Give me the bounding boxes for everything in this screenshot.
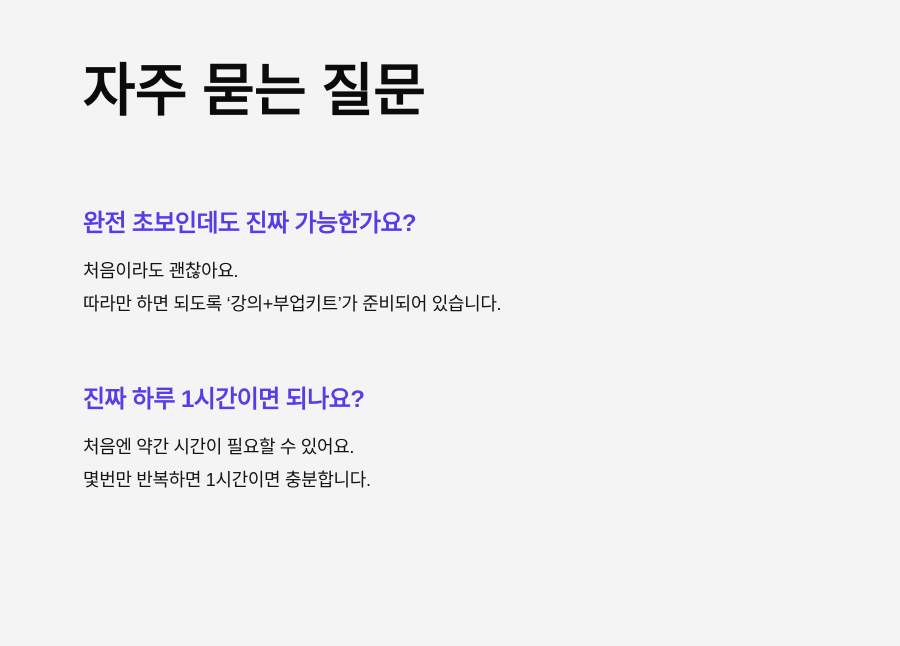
- faq-page: 자주 묻는 질문 완전 초보인데도 진짜 가능한가요? 처음이라도 괜찮아요. …: [0, 0, 900, 646]
- faq-answer: 처음이라도 괜찮아요. 따라만 하면 되도록 ‘강의+부업키트’가 준비되어 있…: [83, 255, 823, 322]
- faq-answer-line: 따라만 하면 되도록 ‘강의+부업키트’가 준비되어 있습니다.: [83, 288, 823, 321]
- faq-question: 진짜 하루 1시간이면 되나요?: [83, 384, 823, 415]
- faq-answer-line: 처음엔 약간 시간이 필요할 수 있어요.: [83, 431, 823, 464]
- faq-answer-line: 처음이라도 괜찮아요.: [83, 255, 823, 288]
- faq-item: 완전 초보인데도 진짜 가능한가요? 처음이라도 괜찮아요. 따라만 하면 되도…: [83, 208, 823, 322]
- faq-answer: 처음엔 약간 시간이 필요할 수 있어요. 몇번만 반복하면 1시간이면 충분합…: [83, 431, 823, 498]
- faq-list: 완전 초보인데도 진짜 가능한가요? 처음이라도 괜찮아요. 따라만 하면 되도…: [83, 208, 823, 498]
- faq-item: 진짜 하루 1시간이면 되나요? 처음엔 약간 시간이 필요할 수 있어요. 몇…: [83, 384, 823, 498]
- faq-answer-line: 몇번만 반복하면 1시간이면 충분합니다.: [83, 464, 823, 497]
- page-title: 자주 묻는 질문: [83, 58, 425, 125]
- faq-question: 완전 초보인데도 진짜 가능한가요?: [83, 208, 823, 239]
